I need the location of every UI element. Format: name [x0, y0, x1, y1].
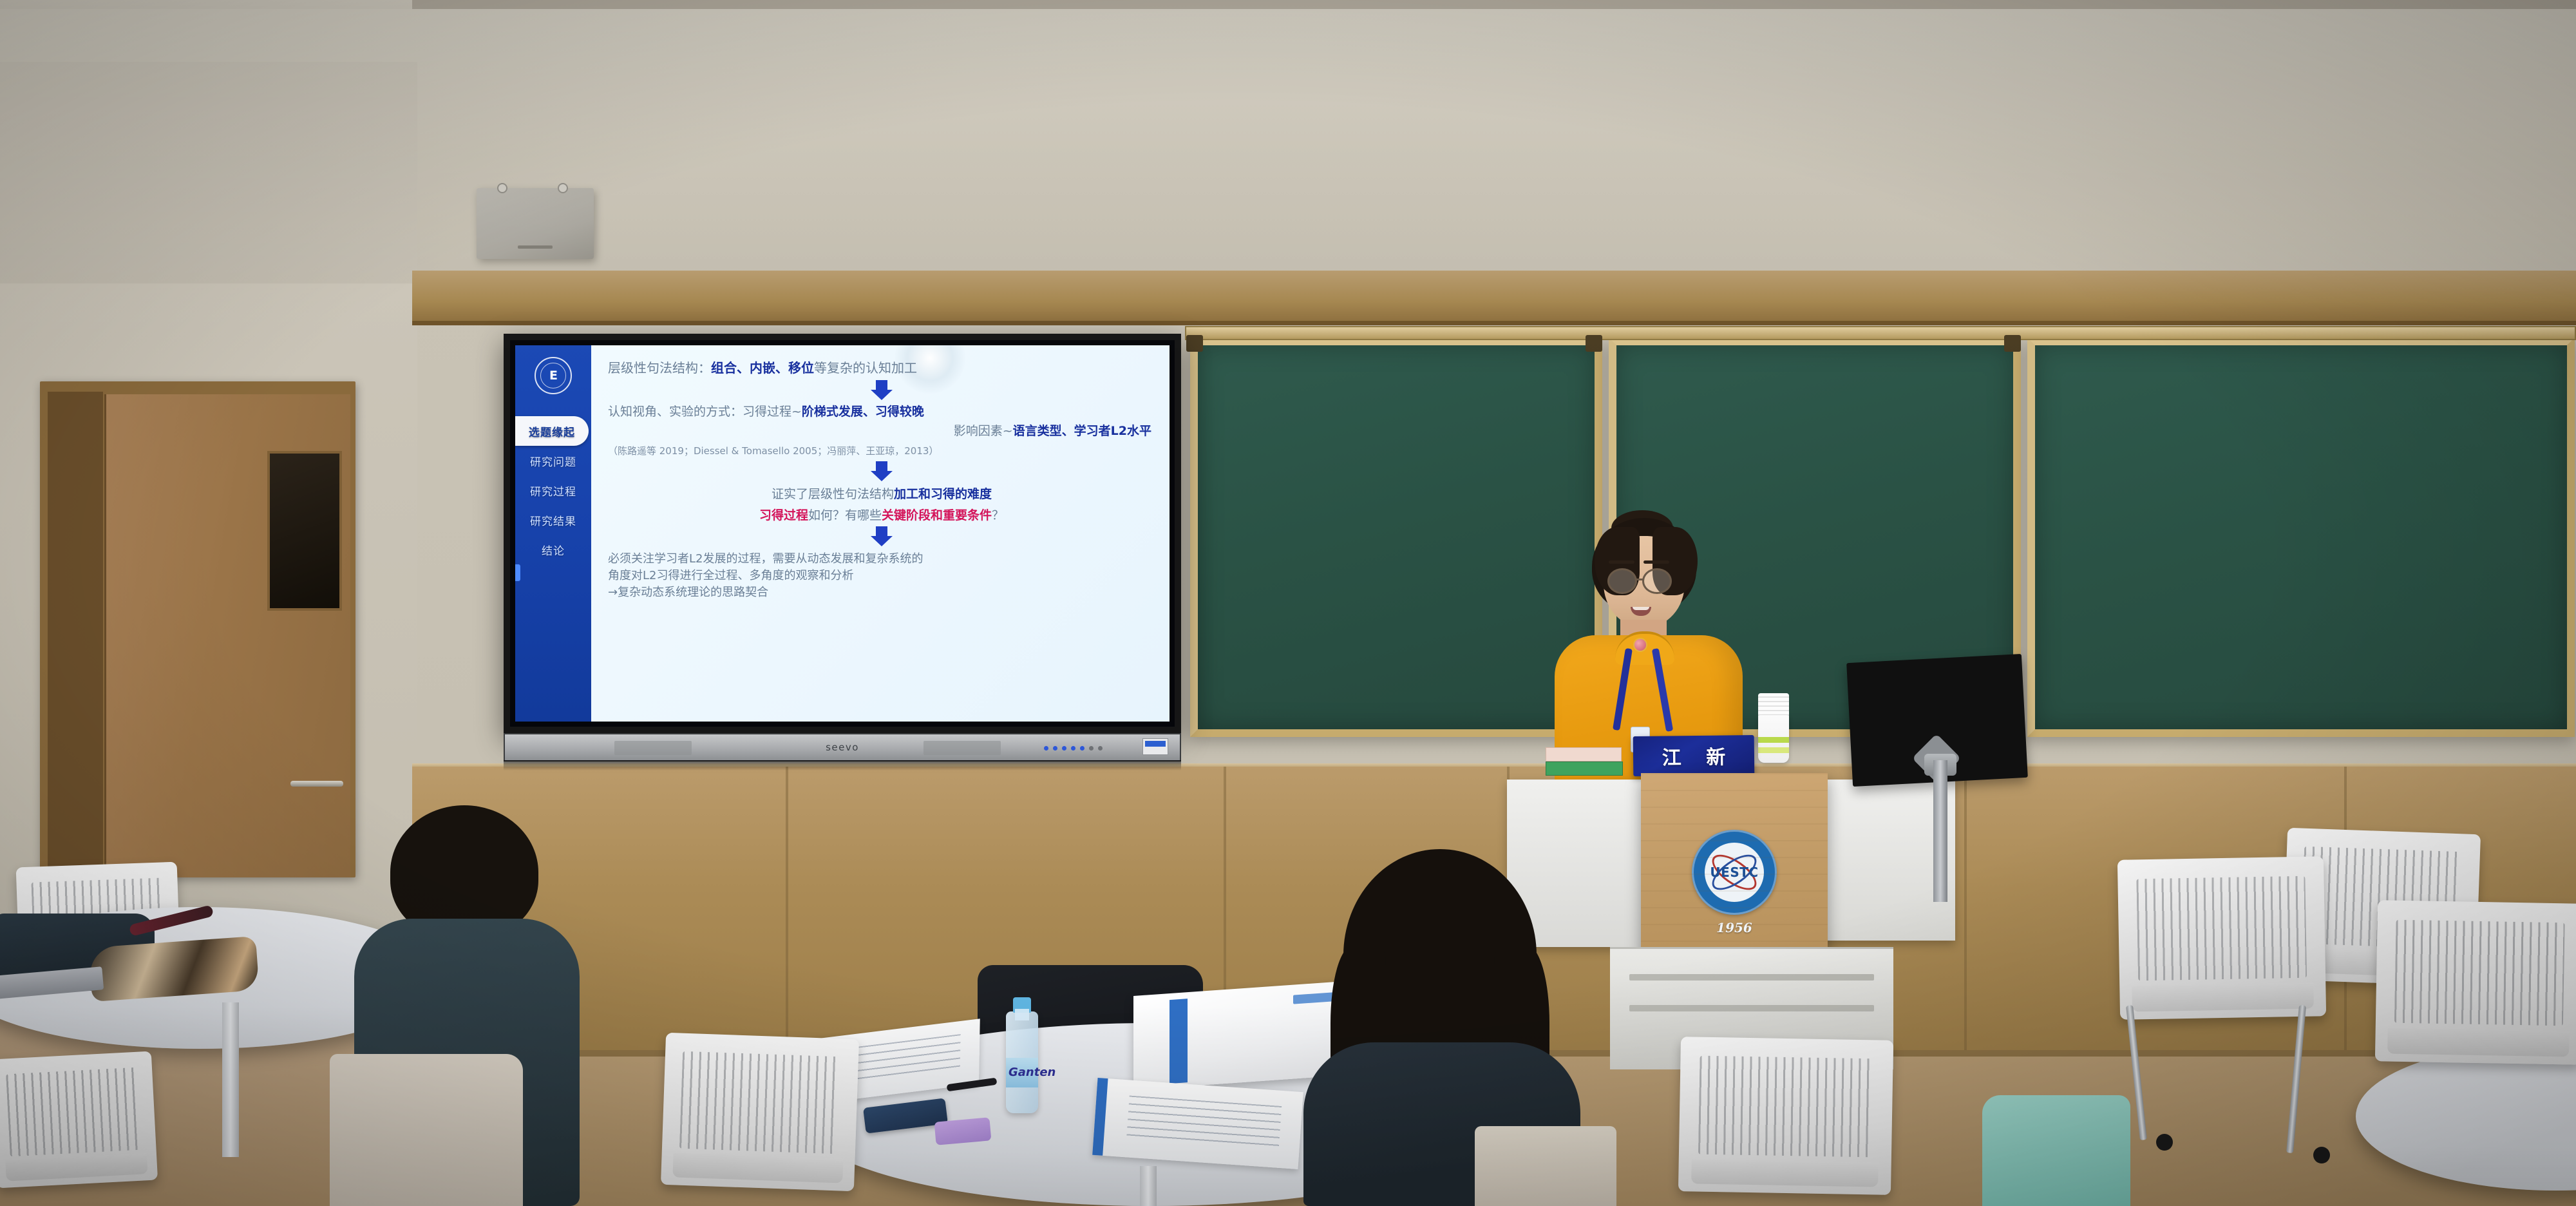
logo-glyph: E — [549, 370, 557, 382]
uestc-logo-icon: UESTC — [1692, 830, 1777, 915]
slide-citation: （陈路遥等 2019；Diessel & Tomasello 2005；冯丽萍、… — [608, 446, 1155, 457]
paper-cup — [1758, 715, 1789, 763]
open-booklet — [1092, 1078, 1303, 1169]
slide-line-4-lead: 证实了层级性句法结构 — [772, 487, 894, 501]
glasses-bridge — [1636, 579, 1643, 580]
table-leg — [1140, 1166, 1157, 1206]
display-drop-shadow — [504, 760, 1181, 770]
slide-nav-item-4[interactable]: 结论 — [515, 535, 591, 564]
down-arrow-1 — [608, 380, 1155, 402]
display-brand-label: seevo — [826, 742, 859, 753]
bottle-label: Ganten — [1006, 1058, 1038, 1087]
collar-pin-icon — [1633, 638, 1647, 652]
presenter-eyebrow-right — [1643, 560, 1669, 564]
slide-nav-item-1[interactable]: 研究问题 — [515, 446, 591, 475]
display-vent — [923, 741, 1001, 755]
chair-cover — [1475, 1126, 1616, 1206]
chair[interactable] — [1678, 1037, 1893, 1195]
down-arrow-3 — [608, 526, 1155, 548]
slide-line-2: 认知视角、实验的方式：习得过程~阶梯式发展、习得较晚 — [608, 405, 1155, 419]
wall-speaker-box — [477, 188, 594, 259]
glasses-icon — [1642, 568, 1672, 594]
slide-line-2-lead: 认知视角、实验的方式：习得过程~ — [608, 405, 802, 419]
screw-icon — [497, 183, 507, 193]
uestc-abbr: UESTC — [1710, 865, 1758, 880]
cabinet-vent — [1629, 974, 1874, 981]
sidebar-tick-marker — [515, 564, 520, 581]
slide-line-5-emphasis-a: 习得过程 — [759, 508, 808, 522]
chalkboard-right — [2027, 338, 2575, 737]
slide-line-4-emphasis: 加工和习得的难度 — [894, 487, 992, 501]
slide-line-3: 影响因素~语言类型、学习者L2水平 — [608, 424, 1155, 438]
door[interactable] — [40, 381, 355, 877]
display-indicator-leds — [1044, 746, 1103, 751]
upper-wall-left — [0, 62, 417, 294]
display-control-bar[interactable]: seevo — [504, 733, 1181, 761]
attendee-center — [1282, 849, 1642, 1206]
display-vent — [614, 741, 692, 755]
slide-line-1-lead: 层级性句法结构： — [608, 360, 711, 376]
chalkboard-corner — [1186, 335, 1203, 352]
wood-dado-band — [412, 271, 2576, 322]
dado-shadow-line — [412, 321, 2576, 325]
slide-nav-item-3[interactable]: 研究结果 — [515, 505, 591, 535]
slide-nav-list: 选题缘起 研究问题 研究过程 研究结果 结论 — [515, 416, 591, 564]
slide-content: 层级性句法结构：组合、内嵌、移位等复杂的认知加工 认知视角、实验的方式：习得过程… — [591, 345, 1170, 722]
chair[interactable] — [2375, 900, 2576, 1065]
glasses-icon — [1607, 568, 1637, 594]
university-logo-icon: E — [535, 357, 572, 394]
speaker-slot — [518, 245, 553, 249]
stacked-books — [1546, 747, 1623, 777]
chair[interactable] — [2117, 856, 2326, 1020]
slide-line-7: 角度对L2习得进行全过程、多角度的观察和分析 — [608, 569, 1155, 582]
slide-line-3-lead: 影响因素~ — [954, 424, 1013, 438]
slide-nav-item-2[interactable]: 研究过程 — [515, 475, 591, 505]
down-arrow-2 — [608, 461, 1155, 483]
chair-caster — [2313, 1147, 2330, 1163]
slide-line-4: 证实了层级性句法结构加工和习得的难度 — [608, 487, 1155, 501]
chair[interactable] — [661, 1033, 859, 1191]
slide-line-5-tail: ？ — [992, 508, 1004, 522]
chalkboard-corner — [1586, 335, 1602, 352]
door-reveal — [48, 392, 103, 877]
speaker-name: 江 新 — [1653, 741, 1735, 770]
uestc-founding-year: 1956 — [1716, 920, 1752, 935]
eraser — [934, 1117, 992, 1145]
slide-line-1-emphasis: 组合、内嵌、移位 — [711, 360, 814, 376]
chair-cover — [330, 1054, 523, 1206]
slide-line-3-emphasis: 语言类型、学习者L2水平 — [1013, 424, 1151, 438]
door-window — [267, 451, 342, 611]
slide-sidebar: E 选题缘起 研究问题 研究过程 研究结果 结论 — [515, 345, 591, 722]
slide-nav-item-0[interactable]: 选题缘起 — [515, 416, 589, 446]
chair-caster — [2156, 1134, 2173, 1151]
monitor-arm-post — [1933, 760, 1947, 902]
chair[interactable] — [0, 1051, 158, 1189]
slide-line-1: 层级性句法结构：组合、内嵌、移位等复杂的认知加工 — [608, 361, 1155, 376]
wainscot-joint — [1964, 767, 1967, 1069]
screw-icon — [558, 183, 568, 193]
classroom-scene: E 选题缘起 研究问题 研究过程 研究结果 结论 层级性句法结构：组合、内嵌、移… — [0, 0, 2576, 1206]
table-leg — [222, 1002, 239, 1157]
speaker-nameplate: 江 新 — [1633, 735, 1755, 776]
presentation-slide[interactable]: E 选题缘起 研究问题 研究过程 研究结果 结论 层级性句法结构：组合、内嵌、移… — [515, 345, 1170, 722]
bottle-brand: Ganten — [1009, 1066, 1056, 1079]
slide-line-5-mid: 如何？有哪些 — [808, 508, 882, 522]
door-leaf[interactable] — [104, 394, 350, 877]
water-bottle: Ganten — [1006, 1011, 1038, 1113]
cup-stack — [1758, 693, 1789, 718]
draped-jacket — [1982, 1095, 2130, 1206]
door-handle[interactable] — [290, 781, 343, 787]
cabinet-vent — [1629, 1005, 1874, 1011]
slide-line-2-emphasis: 阶梯式发展、习得较晚 — [802, 405, 924, 419]
slide-line-6: 必须关注学习者L2发展的过程，需要从动态发展和复杂系统的 — [608, 552, 1155, 566]
chalkboard-corner — [2004, 335, 2021, 352]
attendee-left — [335, 805, 605, 1206]
display-side-tag — [1142, 738, 1168, 755]
wainscot-joint — [786, 767, 788, 1069]
presenter-eyebrow-left — [1609, 560, 1634, 564]
interactive-display[interactable]: E 选题缘起 研究问题 研究过程 研究结果 结论 层级性句法结构：组合、内嵌、移… — [504, 334, 1181, 733]
slide-line-5: 习得过程如何？有哪些关键阶段和重要条件？ — [608, 508, 1155, 522]
slide-line-1-tail: 等复杂的认知加工 — [814, 360, 917, 376]
chalkboard-top-rail — [1185, 326, 2576, 340]
slide-line-5-emphasis-b: 关键阶段和重要条件 — [882, 508, 992, 522]
slide-line-8: →复杂动态系统理论的思路契合 — [608, 586, 1155, 599]
